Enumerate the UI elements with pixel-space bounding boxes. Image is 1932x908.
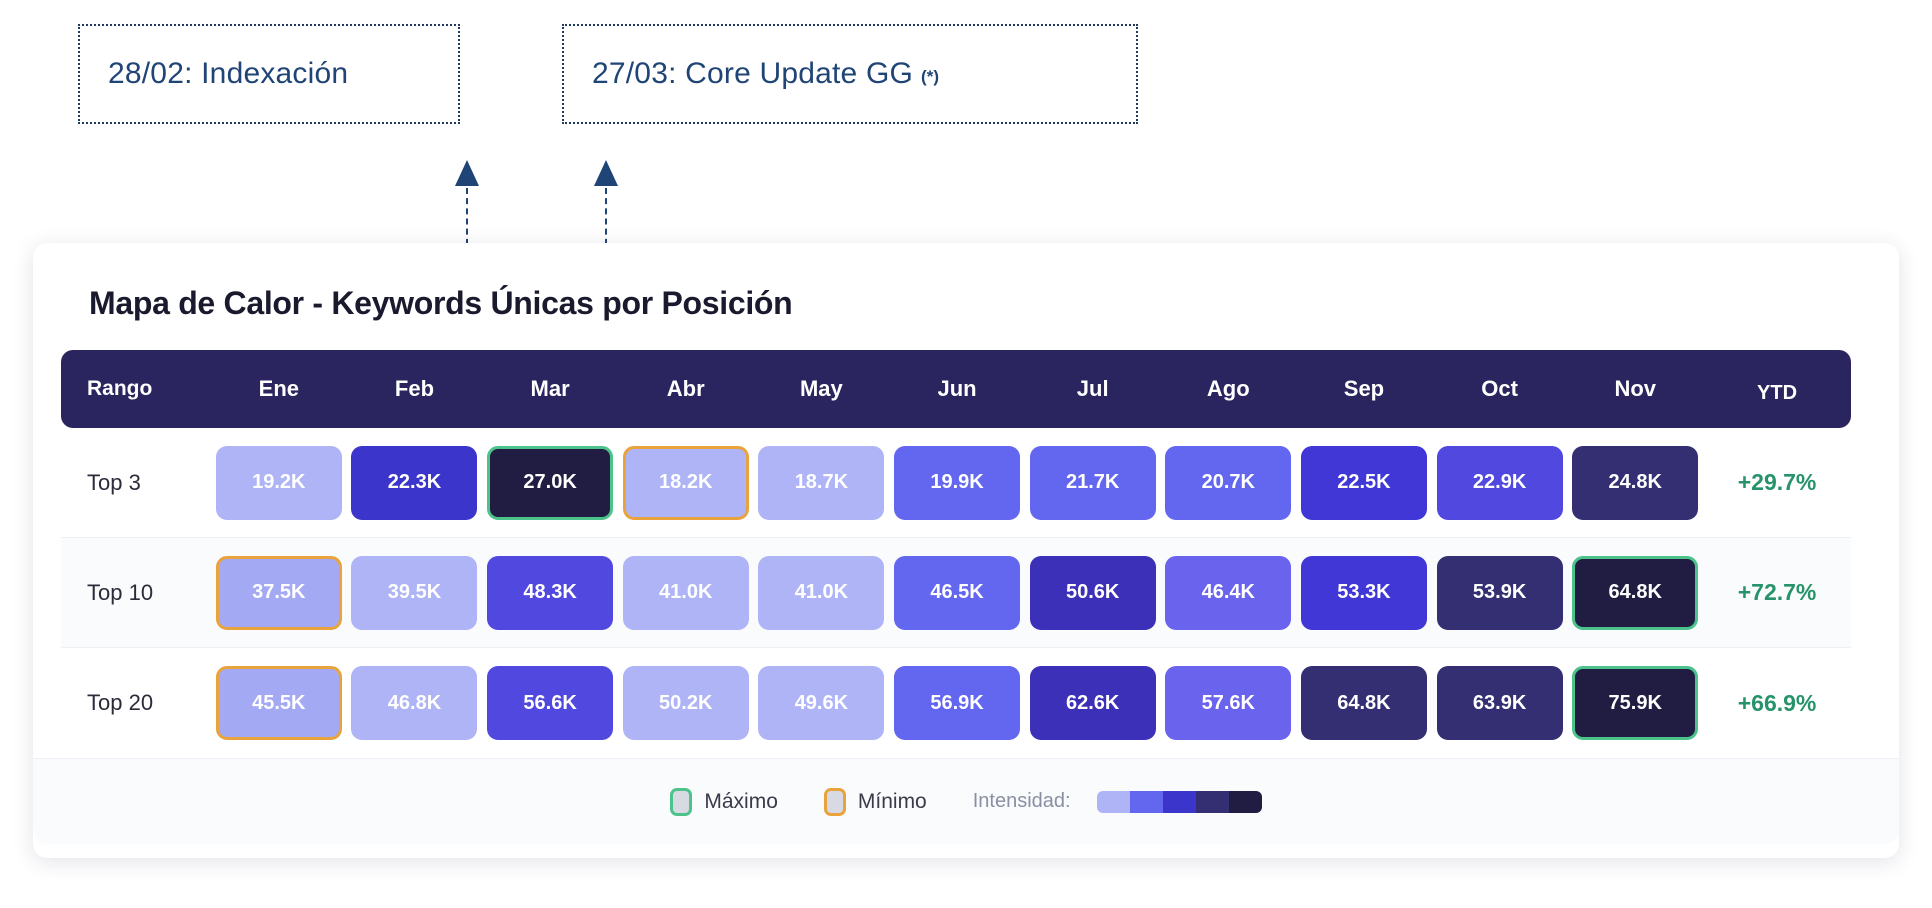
heatmap-cell[interactable]: 22.5K <box>1301 446 1427 520</box>
intensity-swatch <box>1163 791 1196 813</box>
row-label-top-20: Top 20 <box>61 690 211 716</box>
col-header-abr: Abr <box>618 376 754 402</box>
heatmap-cell-wrap: 46.5K <box>889 556 1025 630</box>
heatmap-cell[interactable]: 21.7K <box>1030 446 1156 520</box>
heatmap-cell-wrap: 53.9K <box>1432 556 1568 630</box>
col-header-rango: Rango <box>61 377 211 401</box>
heatmap-cell[interactable]: 64.8K <box>1572 556 1698 630</box>
heatmap-cell-wrap: 24.8K <box>1567 446 1703 520</box>
heatmap-cell-wrap: 64.8K <box>1296 666 1432 740</box>
heatmap-cell[interactable]: 53.3K <box>1301 556 1427 630</box>
col-header-jun: Jun <box>889 376 1025 402</box>
max-swatch-icon <box>670 788 692 816</box>
ytd-value: +72.7% <box>1703 579 1851 606</box>
legend: Máximo Mínimo Intensidad: <box>33 758 1899 844</box>
col-header-oct: Oct <box>1432 376 1568 402</box>
heatmap-cell[interactable]: 24.8K <box>1572 446 1698 520</box>
heatmap-cell[interactable]: 22.3K <box>351 446 477 520</box>
legend-label-minimo: Mínimo <box>858 790 927 814</box>
legend-item-intensidad: Intensidad: <box>973 790 1262 813</box>
heatmap-cell-wrap: 41.0K <box>754 556 890 630</box>
table-row: Top 1037.5K39.5K48.3K41.0K41.0K46.5K50.6… <box>61 538 1851 648</box>
heatmap-cell-wrap: 63.9K <box>1432 666 1568 740</box>
heatmap-cell-wrap: 21.7K <box>1025 446 1161 520</box>
heatmap-cell-wrap: 39.5K <box>347 556 483 630</box>
heatmap-cell[interactable]: 56.6K <box>487 666 613 740</box>
heatmap-cell-wrap: 50.2K <box>618 666 754 740</box>
heatmap-cell-wrap: 45.5K <box>211 666 347 740</box>
heatmap-cell-wrap: 75.9K <box>1567 666 1703 740</box>
intensity-swatch <box>1196 791 1229 813</box>
heatmap-cell[interactable]: 39.5K <box>351 556 477 630</box>
heatmap-cell[interactable]: 19.9K <box>894 446 1020 520</box>
col-header-ene: Ene <box>211 376 347 402</box>
heatmap-cell[interactable]: 46.8K <box>351 666 477 740</box>
legend-item-minimo: Mínimo <box>824 788 927 816</box>
heatmap-cell-wrap: 18.7K <box>754 446 890 520</box>
heatmap-cell-wrap: 22.3K <box>347 446 483 520</box>
heatmap-cell[interactable]: 22.9K <box>1437 446 1563 520</box>
heatmap-table: RangoEneFebMarAbrMayJunJulAgoSepOctNovYT… <box>61 350 1851 758</box>
heatmap-cell[interactable]: 56.9K <box>894 666 1020 740</box>
heatmap-cell-wrap: 56.9K <box>889 666 1025 740</box>
arrow-up-icon <box>594 160 618 186</box>
heatmap-cell-wrap: 46.4K <box>1160 556 1296 630</box>
heatmap-cell-wrap: 19.2K <box>211 446 347 520</box>
heatmap-cell-wrap: 49.6K <box>754 666 890 740</box>
annotation-label: 27/03: Core Update GG <box>592 57 913 91</box>
table-header-row: RangoEneFebMarAbrMayJunJulAgoSepOctNovYT… <box>61 350 1851 428</box>
row-label-top-3: Top 3 <box>61 470 211 496</box>
table-row: Top 319.2K22.3K27.0K18.2K18.7K19.9K21.7K… <box>61 428 1851 538</box>
table-row: Top 2045.5K46.8K56.6K50.2K49.6K56.9K62.6… <box>61 648 1851 758</box>
heatmap-cell[interactable]: 75.9K <box>1572 666 1698 740</box>
heatmap-cell-wrap: 48.3K <box>482 556 618 630</box>
col-header-ytd: YTD <box>1703 382 1851 405</box>
heatmap-cell[interactable]: 41.0K <box>623 556 749 630</box>
heatmap-cell[interactable]: 62.6K <box>1030 666 1156 740</box>
col-header-nov: Nov <box>1567 376 1703 402</box>
heatmap-cell-wrap: 18.2K <box>618 446 754 520</box>
col-header-mar: Mar <box>482 376 618 402</box>
heatmap-cell-wrap: 53.3K <box>1296 556 1432 630</box>
col-header-ago: Ago <box>1160 376 1296 402</box>
heatmap-cell[interactable]: 50.6K <box>1030 556 1156 630</box>
heatmap-cell-wrap: 37.5K <box>211 556 347 630</box>
heatmap-cell-wrap: 57.6K <box>1160 666 1296 740</box>
annotation-asterisk-note: (*) <box>921 67 939 87</box>
heatmap-cell[interactable]: 49.6K <box>758 666 884 740</box>
heatmap-cell[interactable]: 48.3K <box>487 556 613 630</box>
heatmap-cell-wrap: 19.9K <box>889 446 1025 520</box>
intensity-swatch <box>1229 791 1262 813</box>
legend-label-maximo: Máximo <box>704 790 778 814</box>
heatmap-cell[interactable]: 37.5K <box>216 556 342 630</box>
ytd-value: +66.9% <box>1703 690 1851 717</box>
heatmap-cell-wrap: 46.8K <box>347 666 483 740</box>
legend-item-maximo: Máximo <box>670 788 778 816</box>
intensity-scale <box>1097 791 1262 813</box>
heatmap-cell[interactable]: 53.9K <box>1437 556 1563 630</box>
col-header-jul: Jul <box>1025 376 1161 402</box>
annotation-label: 28/02: Indexación <box>108 57 348 91</box>
heatmap-cell-wrap: 64.8K <box>1567 556 1703 630</box>
heatmap-cell[interactable]: 19.2K <box>216 446 342 520</box>
heatmap-cell[interactable]: 64.8K <box>1301 666 1427 740</box>
intensity-swatch <box>1130 791 1163 813</box>
annotation-box-core-update: 27/03: Core Update GG (*) <box>562 24 1138 124</box>
page-title: Mapa de Calor - Keywords Únicas por Posi… <box>89 285 1871 322</box>
heatmap-cell[interactable]: 27.0K <box>487 446 613 520</box>
heatmap-cell[interactable]: 20.7K <box>1165 446 1291 520</box>
ytd-value: +29.7% <box>1703 469 1851 496</box>
heatmap-cell-wrap: 22.5K <box>1296 446 1432 520</box>
col-header-feb: Feb <box>347 376 483 402</box>
heatmap-cell[interactable]: 57.6K <box>1165 666 1291 740</box>
heatmap-cell-wrap: 27.0K <box>482 446 618 520</box>
heatmap-cell[interactable]: 50.2K <box>623 666 749 740</box>
annotation-box-indexacion: 28/02: Indexación <box>78 24 460 124</box>
heatmap-cell[interactable]: 18.7K <box>758 446 884 520</box>
heatmap-cell[interactable]: 46.4K <box>1165 556 1291 630</box>
heatmap-cell-wrap: 41.0K <box>618 556 754 630</box>
min-swatch-icon <box>824 788 846 816</box>
arrow-up-icon <box>455 160 479 186</box>
heatmap-cell[interactable]: 46.5K <box>894 556 1020 630</box>
table-body: Top 319.2K22.3K27.0K18.2K18.7K19.9K21.7K… <box>61 428 1851 758</box>
heatmap-cell[interactable]: 45.5K <box>216 666 342 740</box>
heatmap-cell-wrap: 56.6K <box>482 666 618 740</box>
heatmap-cell[interactable]: 18.2K <box>623 446 749 520</box>
heatmap-cell-wrap: 50.6K <box>1025 556 1161 630</box>
heatmap-cell[interactable]: 41.0K <box>758 556 884 630</box>
heatmap-cell[interactable]: 63.9K <box>1437 666 1563 740</box>
heatmap-cell-wrap: 62.6K <box>1025 666 1161 740</box>
heatmap-cell-wrap: 20.7K <box>1160 446 1296 520</box>
col-header-may: May <box>754 376 890 402</box>
col-header-sep: Sep <box>1296 376 1432 402</box>
heatmap-card: Mapa de Calor - Keywords Únicas por Posi… <box>33 243 1899 858</box>
intensity-swatch <box>1097 791 1130 813</box>
heatmap-cell-wrap: 22.9K <box>1432 446 1568 520</box>
row-label-top-10: Top 10 <box>61 580 211 606</box>
legend-label-intensidad: Intensidad: <box>973 790 1071 813</box>
